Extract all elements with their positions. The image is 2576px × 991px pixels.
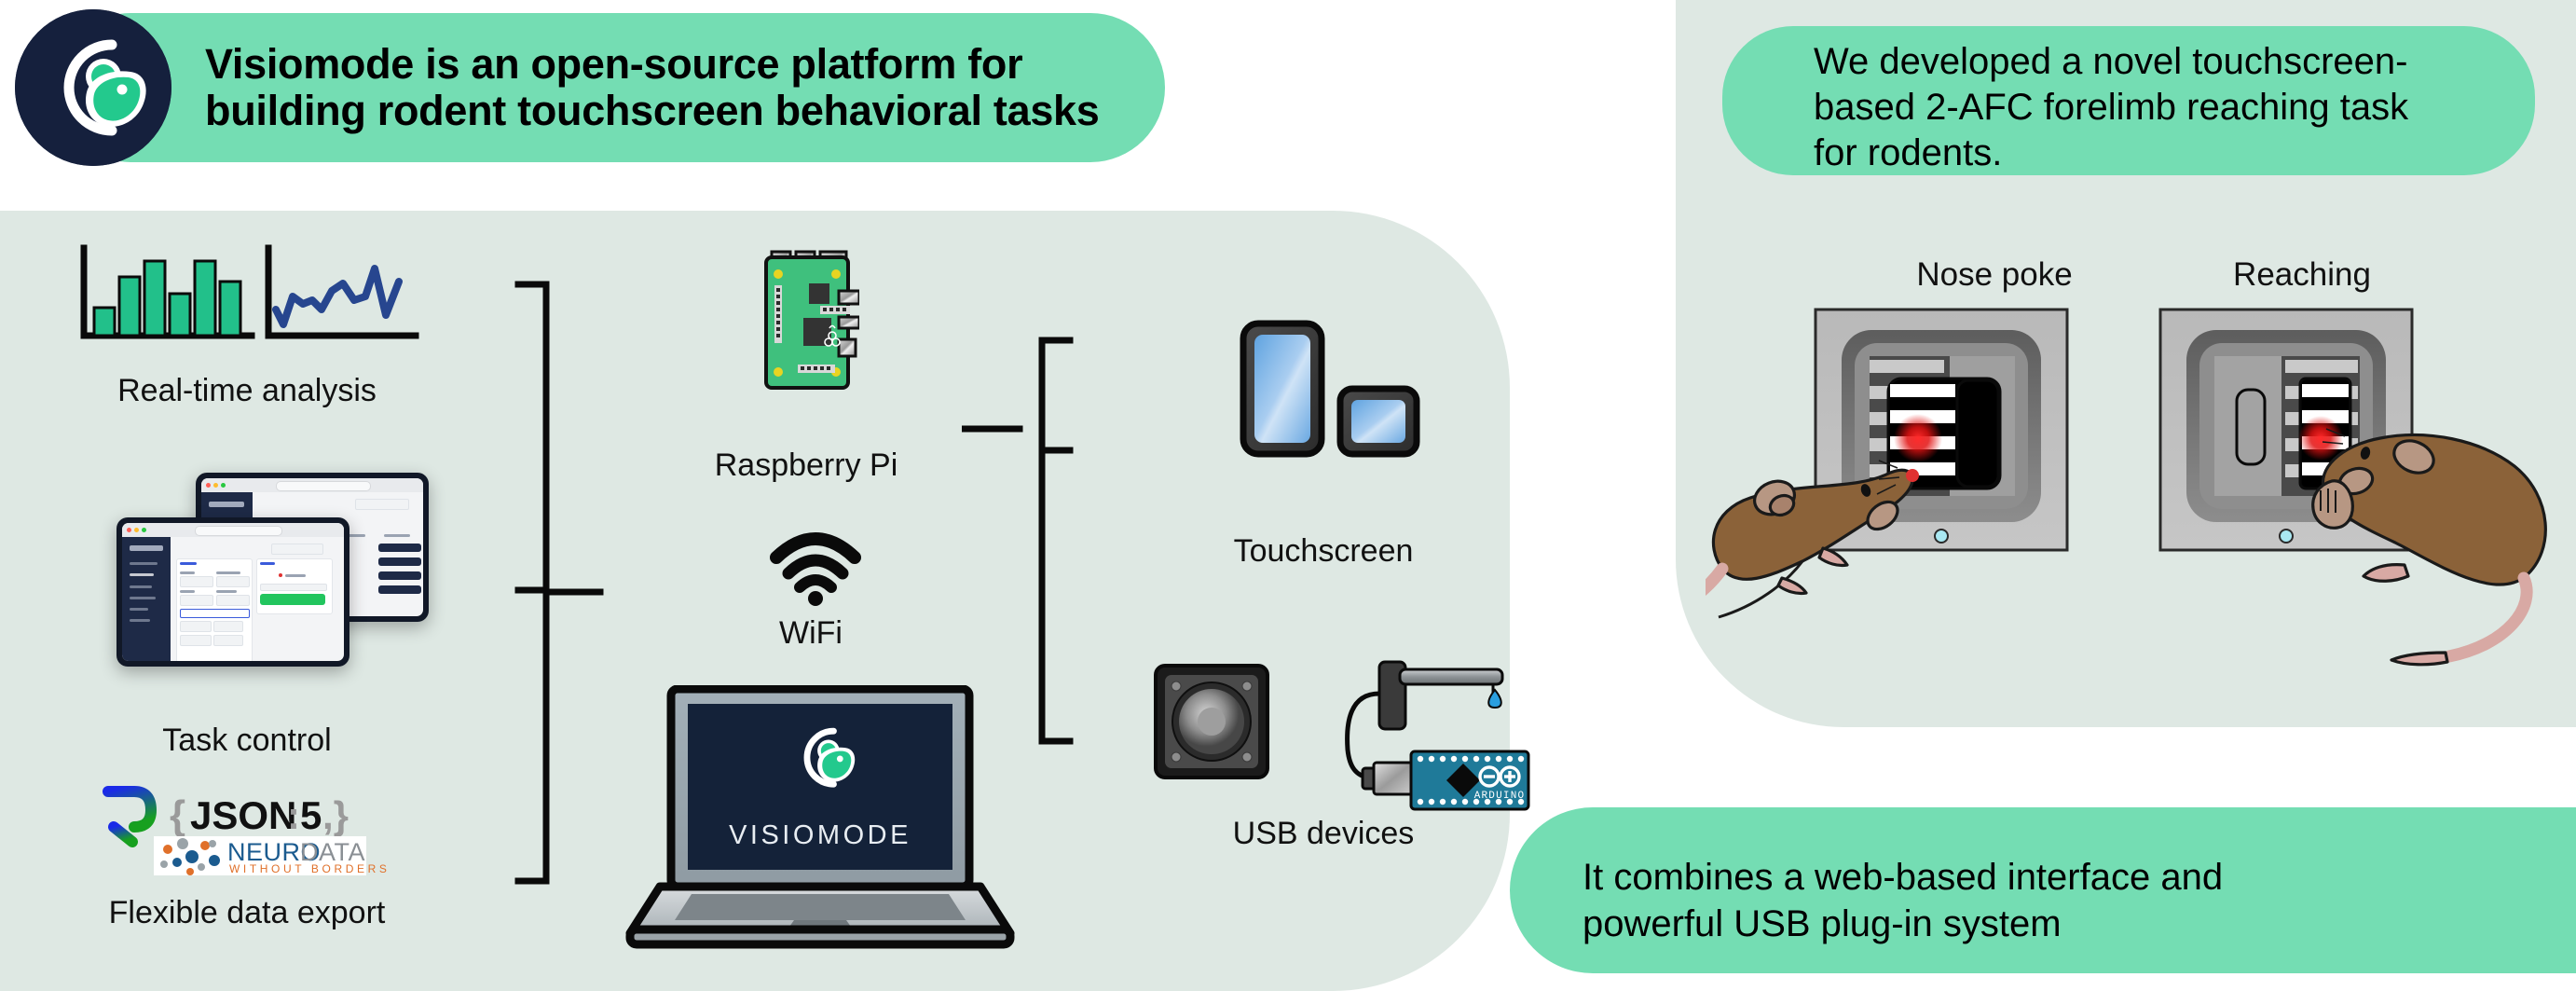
right-connector-stub xyxy=(962,420,1027,438)
svg-text:VISIOMODE: VISIOMODE xyxy=(729,820,911,850)
feature-caption-task-control: Task control xyxy=(37,723,457,759)
svg-text:5: 5 xyxy=(300,793,322,837)
svg-text:JSON: JSON xyxy=(190,793,296,837)
svg-text:,}: ,} xyxy=(322,793,349,837)
top-message-line-2: based 2-AFC forelimb reaching task xyxy=(1814,85,2522,131)
bottom-message-text: It combines a web-based interface and po… xyxy=(1583,854,2459,947)
right-connector-bracket xyxy=(1016,331,1100,750)
hardware-caption-raspberry-pi: Raspberry Pi xyxy=(624,447,988,484)
real-time-analysis-chart-icon xyxy=(75,242,419,345)
top-message-line-3: for rodents. xyxy=(1814,131,2522,176)
mouse-nose-poke-illustration xyxy=(1706,298,2190,690)
wifi-icon xyxy=(769,531,862,606)
page-title: Visiomode is an open-source platform for… xyxy=(205,41,1100,135)
mouse-reaching-illustration xyxy=(2134,298,2576,690)
dashboard-window-front xyxy=(116,517,349,667)
raspberry-pi-board-icon xyxy=(757,250,859,404)
task-label-reaching: Reaching xyxy=(2116,256,2488,294)
title-banner: Visiomode is an open-source platform for… xyxy=(56,13,1165,162)
task-control-screenshots-icon xyxy=(116,461,443,671)
left-connector-stub xyxy=(546,583,621,601)
peripheral-caption-usb-devices: USB devices xyxy=(1156,816,1491,852)
top-message-line-1: We developed a novel touchscreen- xyxy=(1814,39,2522,85)
svg-text:{: { xyxy=(170,792,185,838)
page-title-line-2: building rodent touchscreen behavioral t… xyxy=(205,88,1100,134)
visiomode-logo-icon xyxy=(15,9,171,166)
bottom-message-line-1: It combines a web-based interface and xyxy=(1583,854,2459,901)
feature-caption-real-time-analysis: Real-time analysis xyxy=(37,373,457,409)
speaker-solenoid-arduino-icon: ARDUINO xyxy=(1146,653,1538,820)
top-message-text: We developed a novel touchscreen- based … xyxy=(1814,39,2522,177)
touchscreen-devices-icon xyxy=(1184,312,1463,513)
bottom-message-line-2: powerful USB plug-in system xyxy=(1583,901,2459,947)
svg-text::: : xyxy=(287,793,300,837)
peripheral-caption-touchscreen: Touchscreen xyxy=(1165,533,1482,570)
visiomode-mouse-logo-icon xyxy=(15,9,171,166)
feature-caption-flexible-data-export: Flexible data export xyxy=(28,895,466,931)
hardware-caption-wifi: WiFi xyxy=(652,615,969,652)
arduino-board-label: ARDUINO xyxy=(1474,791,1526,802)
page-title-line-1: Visiomode is an open-source platform for xyxy=(205,41,1100,88)
laptop-icon: VISIOMODE xyxy=(624,685,1016,956)
data-export-logos-icon: { JSON : 5 ,} NEURO DATA WITHOUT BORDERS xyxy=(65,778,438,881)
svg-text:WITHOUT BORDERS: WITHOUT BORDERS xyxy=(229,862,390,875)
